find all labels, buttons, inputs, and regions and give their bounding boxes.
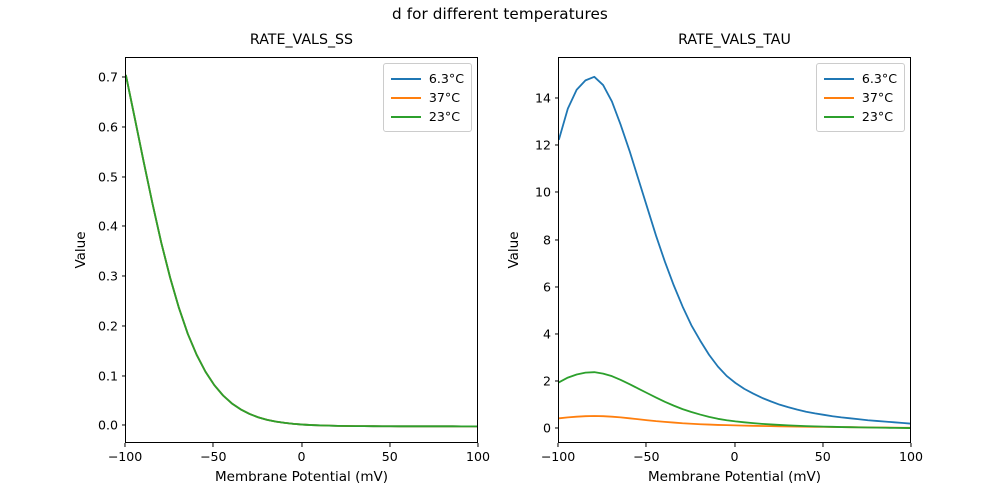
x-tick-label: 100 — [899, 449, 923, 464]
legend-swatch-37°C — [824, 97, 854, 99]
subplot-title-right: RATE_VALS_TAU — [558, 32, 911, 48]
x-tick-label: 50 — [815, 449, 831, 464]
legend-item-37°C[interactable]: 37°C — [824, 88, 897, 107]
y-tick-mark — [555, 286, 559, 287]
y-tick-label: 4 — [543, 326, 551, 341]
x-tick-mark — [822, 443, 823, 447]
x-tick-mark — [734, 443, 735, 447]
legend-swatch-23°C — [824, 116, 854, 118]
subplot-rate-vals-ss: RATE_VALS_SS Value Membrane Potential (m… — [125, 57, 478, 443]
legend-swatch-37°C — [391, 97, 421, 99]
y-tick-mark — [555, 192, 559, 193]
y-tick-label: 0.0 — [98, 418, 118, 433]
legend-item-6.3°C[interactable]: 6.3°C — [824, 69, 897, 88]
y-tick-label: 0.5 — [98, 169, 118, 184]
legend-swatch-6.3°C — [824, 78, 854, 80]
y-tick-label: 0.4 — [98, 219, 118, 234]
y-tick-label: 6 — [543, 279, 551, 294]
legend-label: 6.3°C — [862, 71, 897, 86]
x-tick-label: 100 — [466, 449, 490, 464]
legend-item-23°C[interactable]: 23°C — [391, 107, 464, 126]
y-tick-label: 10 — [535, 185, 551, 200]
legend-item-6.3°C[interactable]: 6.3°C — [391, 69, 464, 88]
legend-left[interactable]: 6.3°C37°C23°C — [383, 63, 472, 132]
x-tick-mark — [646, 443, 647, 447]
y-tick-mark — [555, 98, 559, 99]
y-tick-label: 0.2 — [98, 318, 118, 333]
y-tick-label: 0.1 — [98, 368, 118, 383]
legend-label: 23°C — [429, 109, 460, 124]
x-tick-mark — [389, 443, 390, 447]
legend-label: 37°C — [429, 90, 460, 105]
x-tick-mark — [124, 443, 125, 447]
y-axis-label-right: Value — [506, 231, 522, 268]
y-tick-mark — [555, 239, 559, 240]
legend-swatch-6.3°C — [391, 78, 421, 80]
y-tick-mark — [122, 276, 126, 277]
y-tick-mark — [555, 333, 559, 334]
legend-label: 6.3°C — [429, 71, 464, 86]
y-tick-label: 12 — [535, 138, 551, 153]
x-tick-label: 0 — [730, 449, 738, 464]
y-tick-label: 8 — [543, 232, 551, 247]
y-tick-label: 0 — [543, 420, 551, 435]
x-tick-mark — [213, 443, 214, 447]
y-tick-label: 0.3 — [98, 269, 118, 284]
y-tick-mark — [122, 425, 126, 426]
y-tick-label: 2 — [543, 373, 551, 388]
y-tick-mark — [122, 325, 126, 326]
y-tick-mark — [122, 226, 126, 227]
x-tick-label: 50 — [382, 449, 398, 464]
y-tick-mark — [122, 176, 126, 177]
x-axis-label-right: Membrane Potential (mV) — [558, 469, 911, 485]
matplotlib-figure: d for different temperatures RATE_VALS_S… — [0, 0, 1000, 500]
legend-item-37°C[interactable]: 37°C — [391, 88, 464, 107]
x-axis-label-left: Membrane Potential (mV) — [125, 469, 478, 485]
x-tick-mark — [910, 443, 911, 447]
legend-label: 23°C — [862, 109, 893, 124]
subplot-title-left: RATE_VALS_SS — [125, 32, 478, 48]
legend-item-23°C[interactable]: 23°C — [824, 107, 897, 126]
x-tick-label: −100 — [541, 449, 576, 464]
legend-label: 37°C — [862, 90, 893, 105]
x-tick-mark — [557, 443, 558, 447]
legend-right[interactable]: 6.3°C37°C23°C — [816, 63, 905, 132]
y-tick-mark — [555, 427, 559, 428]
y-tick-label: 0.6 — [98, 119, 118, 134]
x-tick-mark — [301, 443, 302, 447]
legend-swatch-23°C — [391, 116, 421, 118]
x-tick-label: −50 — [633, 449, 660, 464]
y-tick-mark — [122, 126, 126, 127]
y-tick-mark — [555, 145, 559, 146]
x-tick-label: −100 — [108, 449, 143, 464]
y-tick-label: 0.7 — [98, 70, 118, 85]
y-axis-label-left: Value — [73, 231, 89, 268]
y-tick-mark — [122, 375, 126, 376]
x-tick-mark — [477, 443, 478, 447]
x-tick-label: 0 — [297, 449, 305, 464]
figure-suptitle: d for different temperatures — [0, 5, 1000, 23]
y-tick-mark — [122, 77, 126, 78]
subplot-rate-vals-tau: RATE_VALS_TAU Value Membrane Potential (… — [558, 57, 911, 443]
y-tick-mark — [555, 380, 559, 381]
y-tick-label: 14 — [535, 91, 551, 106]
x-tick-label: −50 — [200, 449, 227, 464]
